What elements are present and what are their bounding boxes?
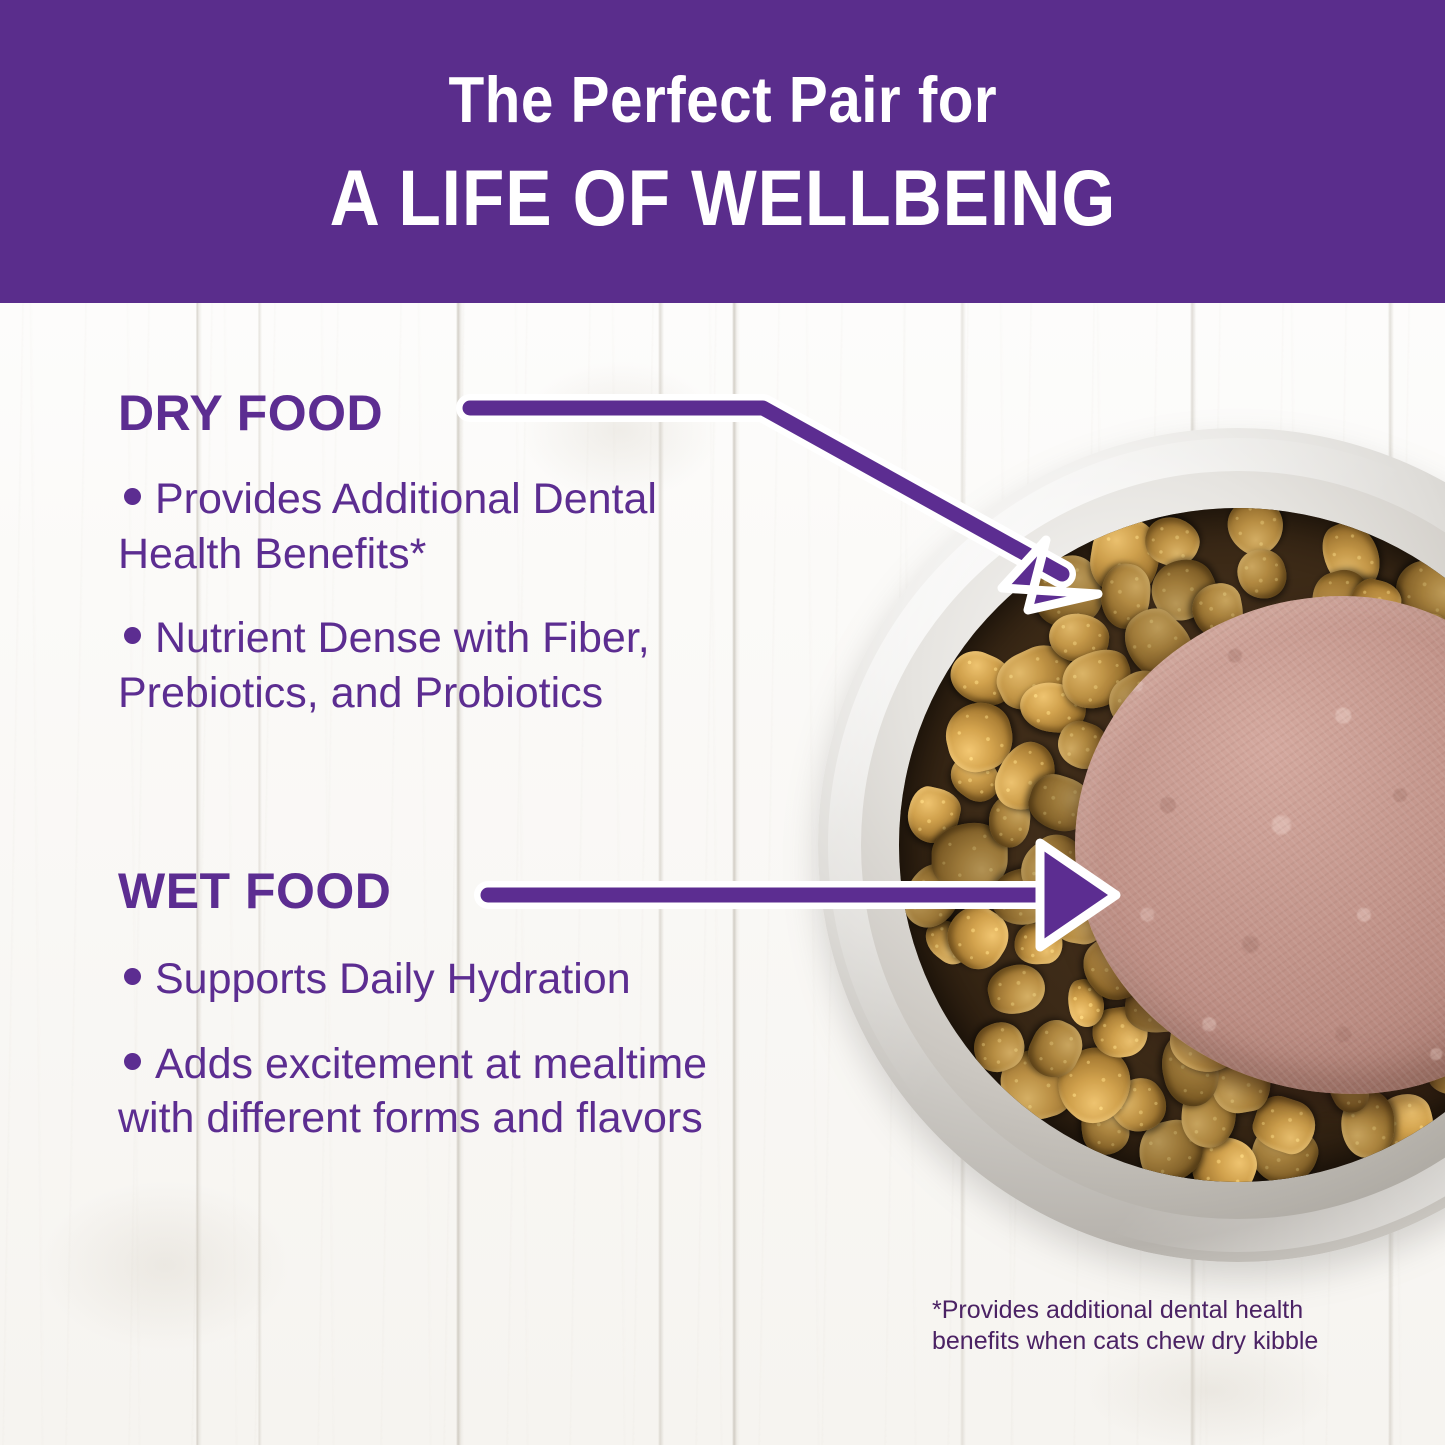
wet-food-bullet-2-text: Adds excitement at mealtime with differe… — [118, 1040, 707, 1143]
dry-food-bullet-2-text: Nutrient Dense with Fiber, Prebiotics, a… — [118, 614, 650, 717]
wet-food-bullet-1: Supports Daily Hydration — [118, 952, 778, 1007]
footnote-text: *Provides additional dental health benef… — [932, 1295, 1362, 1358]
bullet-dot-icon — [124, 488, 141, 505]
bullet-dot-icon — [124, 1053, 141, 1070]
bullet-dot-icon — [124, 627, 141, 644]
dry-food-bullet-2: Nutrient Dense with Fiber, Prebiotics, a… — [118, 611, 778, 720]
kibble-piece — [983, 959, 1050, 1020]
header-banner: The Perfect Pair for A LIFE OF WELLBEING — [0, 0, 1445, 303]
wet-food-bullet-2: Adds excitement at mealtime with differe… — [118, 1037, 778, 1146]
section-wet-food: WET FOOD Supports Daily Hydration Adds e… — [118, 866, 778, 1146]
header-title-line1: The Perfect Pair for — [448, 67, 997, 132]
pet-food-bowl-photo — [818, 428, 1445, 1262]
wet-food-bullet-1-text: Supports Daily Hydration — [155, 955, 631, 1003]
wet-food-title: WET FOOD — [118, 866, 778, 916]
dry-food-bullet-1-text: Provides Additional Dental Health Benefi… — [118, 475, 657, 578]
header-title-line2: A LIFE OF WELLBEING — [329, 158, 1116, 237]
section-dry-food: DRY FOOD Provides Additional Dental Heal… — [118, 388, 778, 720]
infographic-page: The Perfect Pair for A LIFE OF WELLBEING… — [0, 0, 1445, 1445]
dry-food-bullet-1: Provides Additional Dental Health Benefi… — [118, 472, 778, 581]
bowl-interior — [899, 508, 1445, 1182]
kibble-piece — [1232, 543, 1292, 604]
dry-food-title: DRY FOOD — [118, 388, 778, 438]
bullet-dot-icon — [124, 968, 141, 985]
